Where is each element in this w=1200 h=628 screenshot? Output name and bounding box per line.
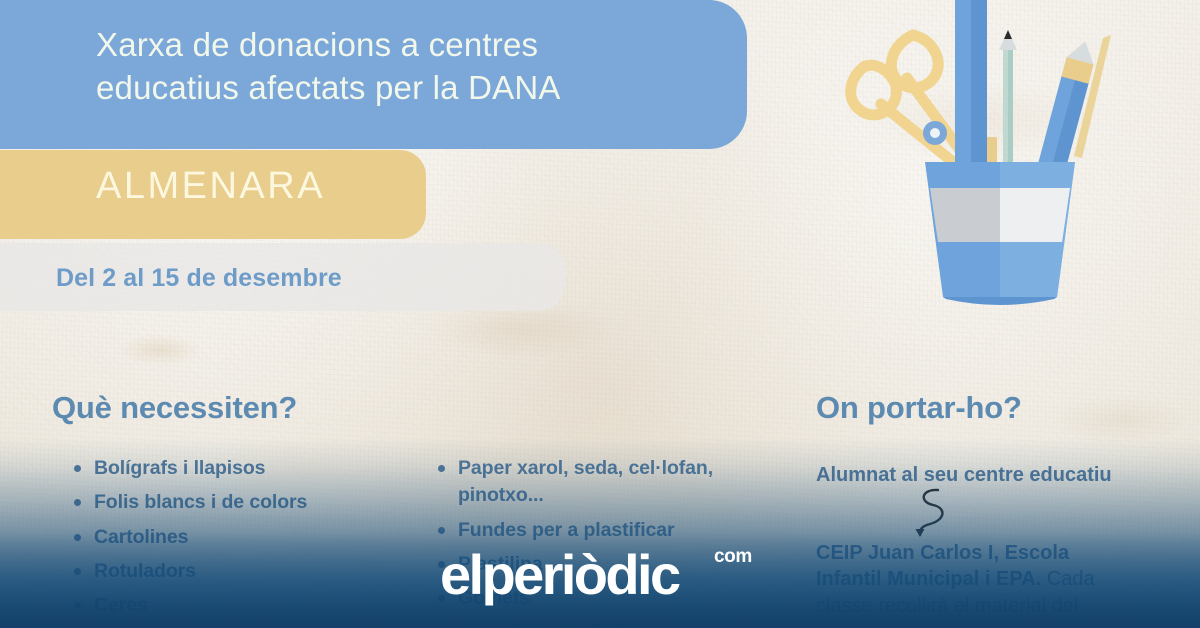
list-item: Paper xarol, seda, cel·lofan, pinotxo...	[432, 455, 782, 510]
needs-list-column-1: Bolígrafs i llapisos Folis blancs i de c…	[68, 455, 408, 628]
cup-icon	[925, 162, 1075, 305]
curved-arrow-icon	[908, 486, 968, 540]
watermark-tld: com	[714, 546, 752, 568]
scissors-icon	[851, 35, 963, 162]
elperiodic-watermark: elperiòdic com	[440, 540, 770, 604]
where-body-text: CEIP Juan Carlos I, Escola Infantil Muni…	[816, 540, 1136, 619]
list-item: Jocs de taula didàctics per a	[432, 619, 782, 628]
where-lead-text: Alumnat al seu centre educatiu	[816, 462, 1116, 488]
list-item: Rotuladors	[68, 558, 408, 585]
campaign-dates: Del 2 al 15 de desembre	[56, 264, 342, 293]
list-item: Cartolines	[68, 524, 408, 551]
yellow-slim-pencil-icon	[987, 137, 997, 164]
list-item: Folis blancs i de colors	[68, 489, 408, 516]
poster-title: Xarxa de donacions a centres educatius a…	[96, 24, 756, 110]
pencil-cup-illustration	[835, 0, 1200, 314]
town-name: ALMENARA	[96, 165, 325, 208]
list-item: Bolígrafs i llapisos	[68, 455, 408, 482]
needs-heading: Què necessiten?	[52, 390, 297, 426]
where-heading: On portar-ho?	[816, 390, 1022, 426]
poster-title-line-2: educatius afectats per la DANA	[96, 67, 756, 110]
blue-pencil-icon	[955, 0, 987, 164]
where-body-schools: CEIP Juan Carlos I, Escola Infantil Muni…	[816, 542, 1069, 590]
watermark-wordmark: elperiòdic	[440, 542, 679, 607]
mint-pencil-icon	[999, 30, 1017, 164]
poster-canvas: Xarxa de donacions a centres educatius a…	[0, 0, 1200, 628]
list-item: Ceres	[68, 592, 408, 619]
poster-title-line-1: Xarxa de donacions a centres	[96, 24, 756, 67]
